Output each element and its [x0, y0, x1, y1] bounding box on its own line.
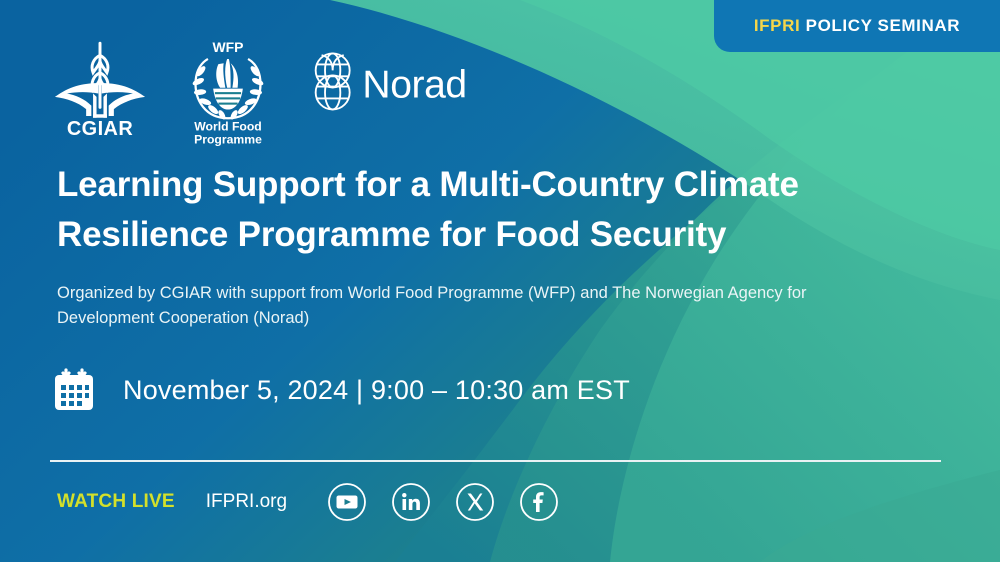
wfp-logo-abbr: WFP [213, 39, 244, 55]
page-title: Learning Support for a Multi-Country Cli… [57, 160, 887, 260]
footer-divider [50, 460, 941, 462]
page-subtitle-line-1: Organized by CGIAR with support from Wor… [57, 281, 887, 306]
page-subtitle-line-2: Development Cooperation (Norad) [57, 306, 887, 331]
norad-logo-label: Norad [362, 64, 466, 107]
policy-seminar-badge: IFPRI POLICY SEMINAR [714, 0, 1000, 52]
facebook-icon[interactable] [519, 482, 559, 522]
wfp-logo-line2: Programme [194, 133, 262, 147]
footer-bar: WATCH LIVE IFPRI.org [57, 481, 559, 523]
page-title-line-2: Resilience Programme for Food Security [57, 210, 887, 260]
cgiar-logo-label: CGIAR [67, 118, 133, 138]
wfp-logo-line1: World Food [194, 119, 262, 133]
calendar-icon [50, 366, 98, 414]
badge-brand: IFPRI [754, 16, 800, 35]
cgiar-logo: CGIAR [48, 38, 152, 139]
youtube-icon[interactable] [327, 482, 367, 522]
badge-suffix: POLICY SEMINAR [800, 16, 960, 35]
ifpri-website-link[interactable]: IFPRI.org [206, 491, 287, 513]
event-datetime: November 5, 2024 | 9:00 – 10:30 am EST [123, 375, 630, 406]
x-twitter-icon[interactable] [455, 482, 495, 522]
norad-logo: Norad [308, 50, 478, 113]
social-links [327, 482, 559, 522]
linkedin-icon[interactable] [391, 482, 431, 522]
seminar-banner: IFPRI POLICY SEMINAR CGIAR WFP [0, 0, 1000, 562]
watch-live-label: WATCH LIVE [57, 491, 175, 513]
partner-logos: CGIAR WFP [48, 38, 478, 142]
badge-label: IFPRI POLICY SEMINAR [754, 16, 960, 36]
page-subtitle: Organized by CGIAR with support from Wor… [57, 281, 887, 331]
page-title-line-1: Learning Support for a Multi-Country Cli… [57, 160, 887, 210]
event-datetime-row: November 5, 2024 | 9:00 – 10:30 am EST [50, 366, 630, 414]
wfp-logo: WFP [180, 38, 276, 147]
